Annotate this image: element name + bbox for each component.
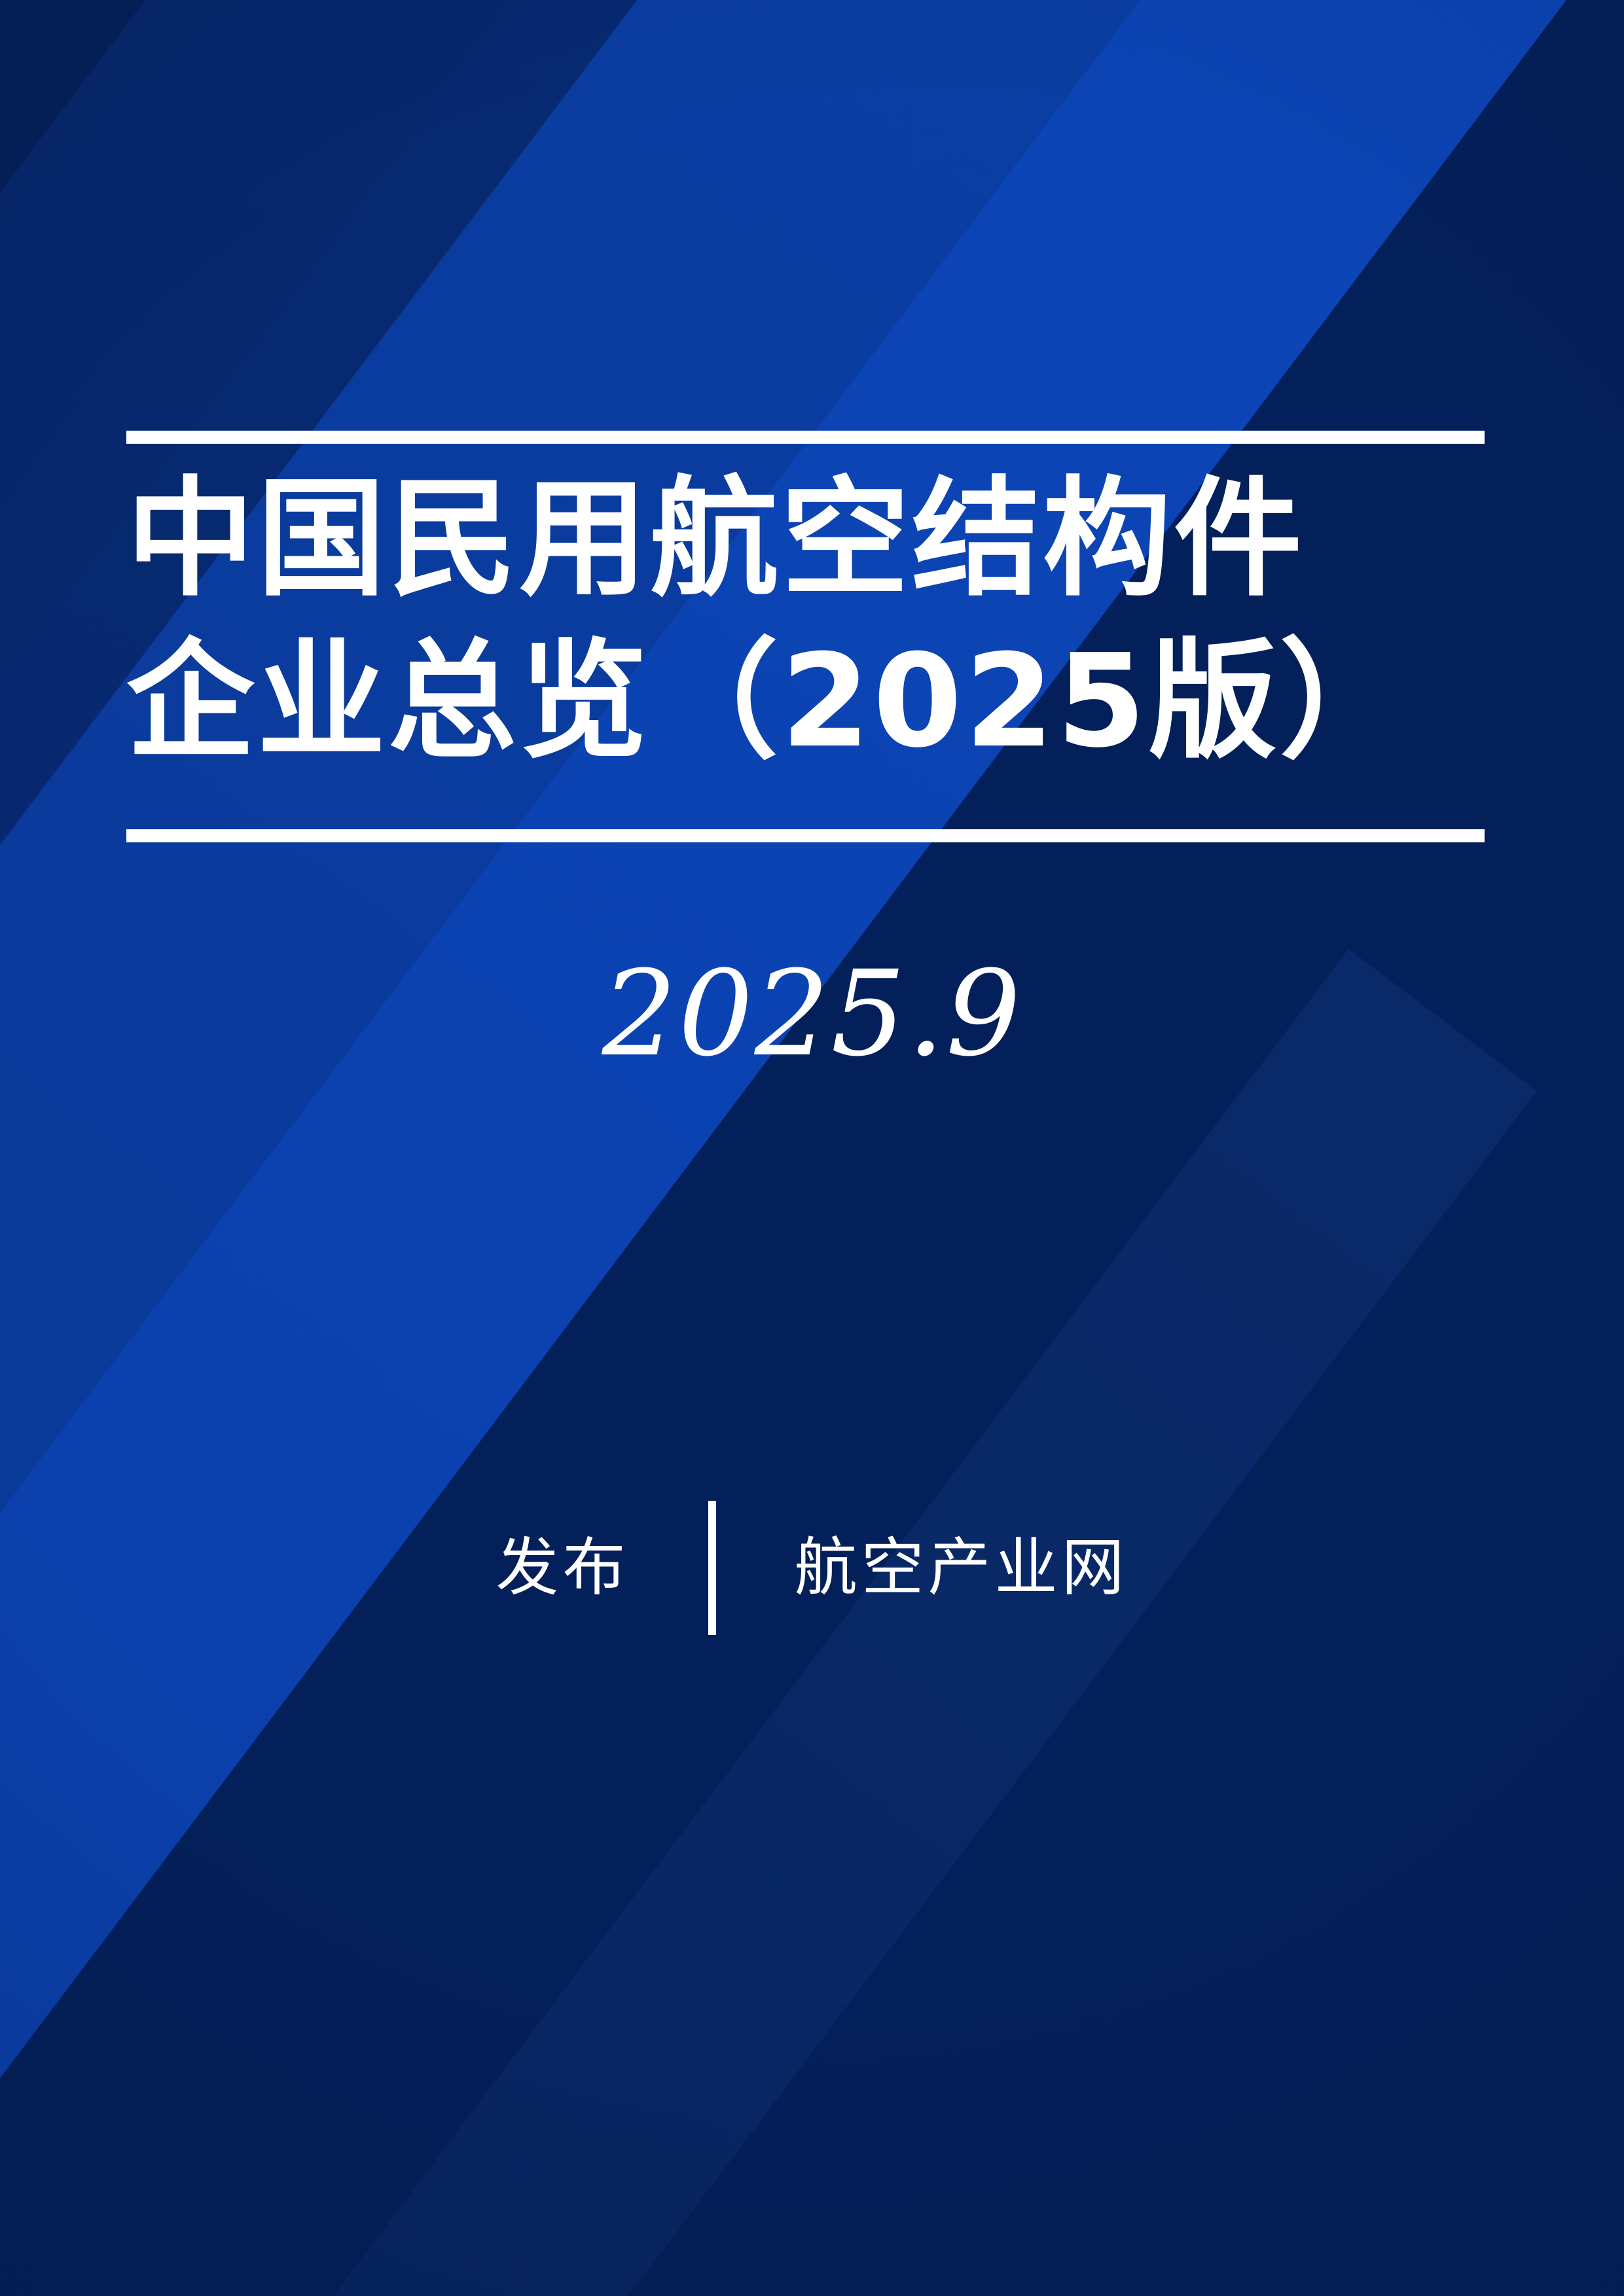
- title-rule-bottom: [126, 829, 1485, 842]
- publisher-divider-icon: [708, 1501, 716, 1635]
- cover-title-line-2: 企业总览（2025版）: [126, 620, 1507, 783]
- cover-content: 中国民用航空结构件 企业总览（2025版） 2025.9 发布 航空产业网: [0, 0, 1624, 2296]
- cover-title: 中国民用航空结构件 企业总览（2025版）: [126, 458, 1507, 783]
- publisher-block: 发布 航空产业网: [0, 1499, 1624, 1636]
- publisher-name: 航空产业网: [795, 1499, 1128, 1636]
- report-cover-page: 中国民用航空结构件 企业总览（2025版） 2025.9 发布 航空产业网: [0, 0, 1624, 2296]
- cover-title-line-1: 中国民用航空结构件: [126, 458, 1507, 620]
- title-rule-top: [126, 431, 1485, 444]
- publisher-label: 发布: [496, 1499, 630, 1636]
- cover-date: 2025.9: [0, 952, 1624, 1077]
